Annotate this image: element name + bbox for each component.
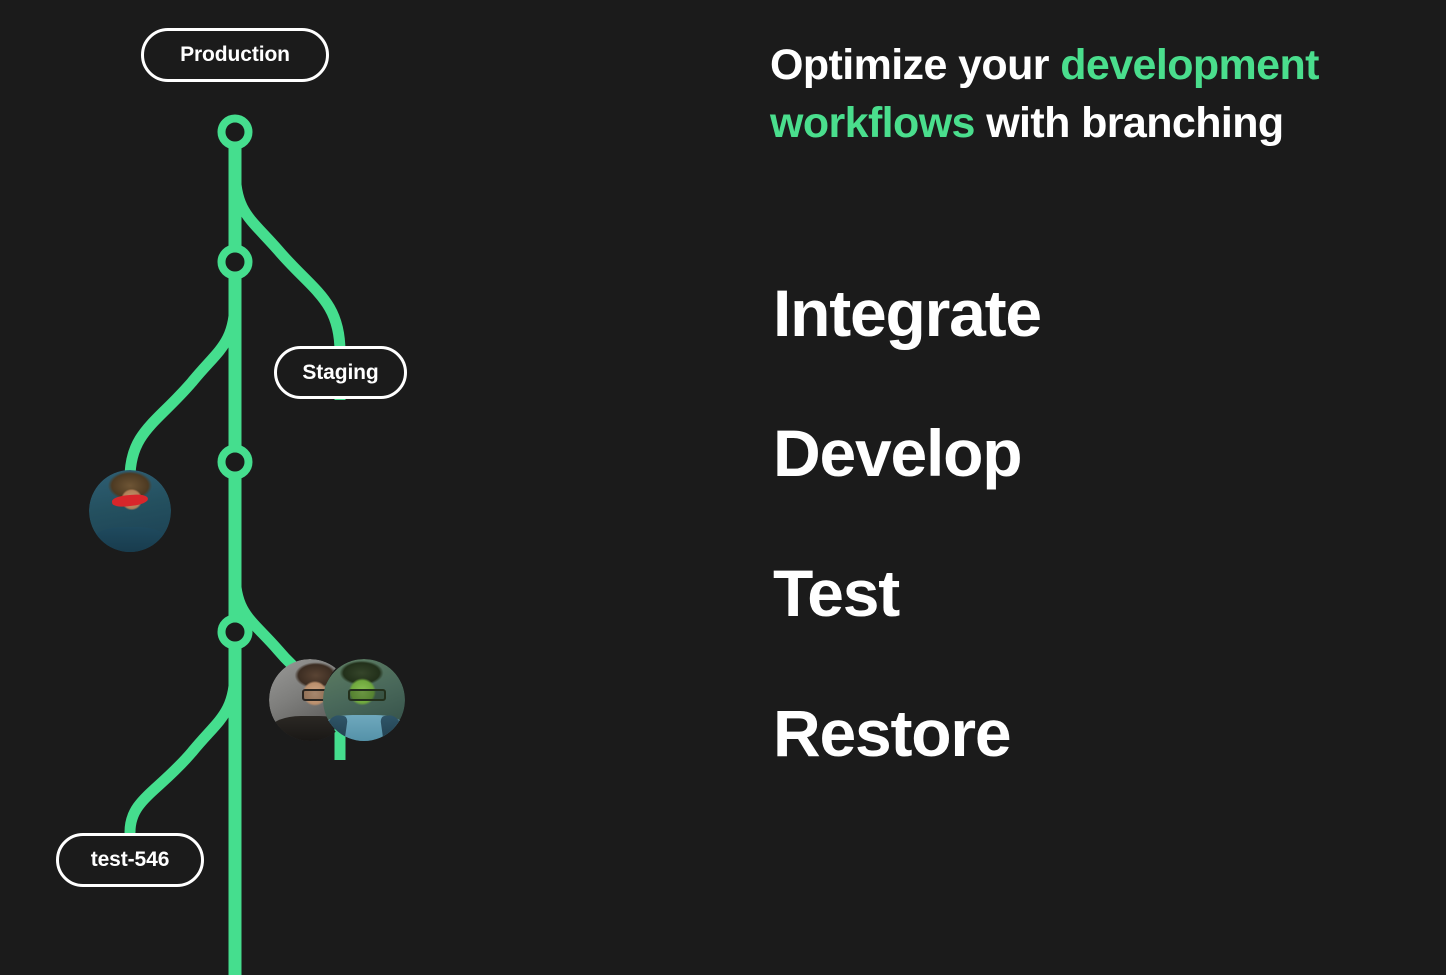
workflow-step-label: Develop [773,420,1021,486]
headline: Optimize your development workflows with… [770,36,1395,152]
workflow-step-develop: Develop [773,383,1041,523]
branch-label-staging[interactable]: Staging [274,346,407,399]
workflow-step-integrate: Integrate [773,243,1041,383]
workflow-step-label: Restore [773,700,1010,766]
commit-node[interactable] [222,619,249,646]
branch-label-production[interactable]: Production [141,28,329,82]
workflow-step-restore: Restore [773,663,1041,803]
branch-graph-panel: Production Staging test-546 [0,0,720,975]
workflow-step-list: Integrate Develop Test Restore [773,243,1041,803]
branch-path-left-upper [130,300,235,478]
branch-label-test-546-text: test-546 [91,848,170,872]
contributor-avatar-green[interactable] [323,659,405,741]
branch-path-left-lower [130,670,235,832]
branch-label-test-546[interactable]: test-546 [56,833,204,887]
headline-part-1: Optimize your [770,41,1060,89]
commit-node[interactable] [222,449,249,476]
avatar-torso-detail [94,527,166,552]
branch-label-production-text: Production [180,43,290,67]
headline-part-2: with branching [975,99,1284,147]
workflow-step-test: Test [773,523,1041,663]
text-panel: Optimize your development workflows with… [770,0,1430,975]
workflow-step-label: Test [773,560,899,626]
workflow-step-label: Integrate [773,280,1041,346]
commit-node[interactable] [222,249,249,276]
avatar-glasses-detail [348,689,386,701]
branch-label-staging-text: Staging [302,361,378,385]
commit-node[interactable] [222,119,249,146]
contributor-avatar-masked[interactable] [89,470,171,552]
branching-workflow-slide: Production Staging test-546 Op [0,0,1446,975]
